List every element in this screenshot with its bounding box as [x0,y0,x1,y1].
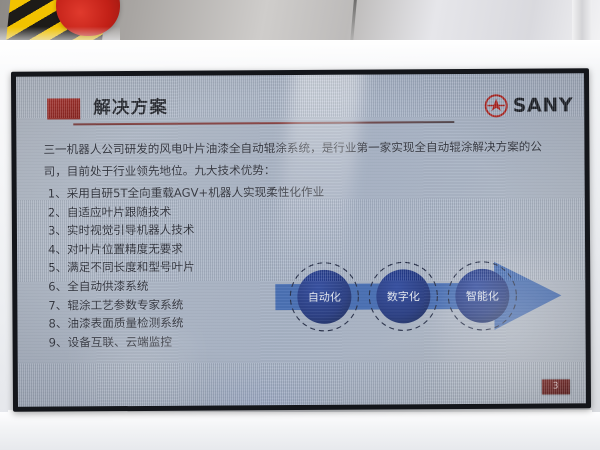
screen-frame: 解决方案 SANY 三一机器人公司研发的风电叶片油漆全自动辊涂系统，是行业第一家… [11,68,591,412]
intro-paragraph: 三一机器人公司研发的风电叶片油漆全自动辊涂系统，是行业第一家实现全自动辊涂解决方… [43,135,548,182]
photo-of-presentation-display: 解决方案 SANY 三一机器人公司研发的风电叶片油漆全自动辊涂系统，是行业第一家… [0,0,600,450]
page-number-badge: 3 [542,379,570,394]
stage-label: 智能化 [466,289,499,303]
stage-2: 数字化 [369,262,437,330]
stage-label: 数字化 [387,289,420,303]
page-title: 解决方案 [93,94,168,119]
presentation-slide: 解决方案 SANY 三一机器人公司研发的风电叶片油漆全自动辊涂系统，是行业第一家… [16,73,586,406]
bezel-bottom-panel [0,412,600,450]
process-diagram: 自动化 数字化 智能化 [261,249,582,343]
list-item: 2、自适应叶片跟随技术 [48,201,348,221]
lcd-screen: 解决方案 SANY 三一机器人公司研发的风电叶片油漆全自动辊涂系统，是行业第一家… [16,73,586,406]
stage-1: 自动化 [290,263,358,331]
title-accent-swatch [47,98,80,119]
list-item: 1、采用自研5T全向重载AGV+机器人实现柔性化作业 [48,183,348,203]
bezel-top-highlight [0,40,600,70]
list-item: 3、实时视觉引导机器人技术 [48,220,348,240]
slide-title-row: 解决方案 [47,93,547,122]
sany-logo: SANY [484,93,574,118]
process-arrow-graphic: 自动化 数字化 智能化 [261,249,582,343]
sany-triangle-emblem-icon [484,94,508,118]
wall-post [572,0,592,40]
sany-wordmark: SANY [513,96,574,115]
stage-label: 自动化 [308,290,341,304]
